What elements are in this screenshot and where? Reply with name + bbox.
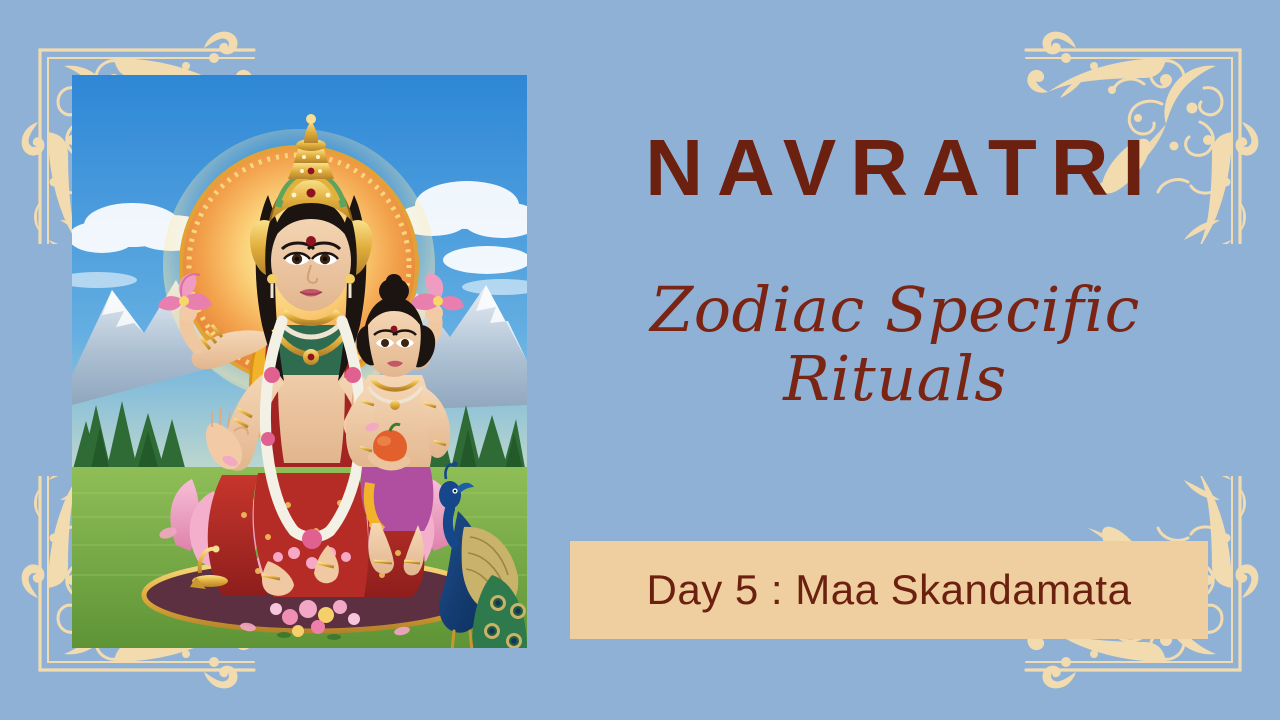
day-banner: Day 5 : Maa Skandamata — [570, 541, 1208, 639]
subtitle: Zodiac Specific Rituals — [575, 275, 1215, 414]
page-title: NAVRATRI — [575, 128, 1215, 208]
day-banner-label: Day 5 : Maa Skandamata — [647, 566, 1132, 614]
navratri-poster: NAVRATRI Zodiac Specific Rituals Day 5 :… — [0, 0, 1280, 720]
skandamata-artwork — [72, 75, 527, 648]
subtitle-line-1: Zodiac Specific — [650, 273, 1140, 346]
subtitle-line-2: Rituals — [575, 344, 1215, 413]
